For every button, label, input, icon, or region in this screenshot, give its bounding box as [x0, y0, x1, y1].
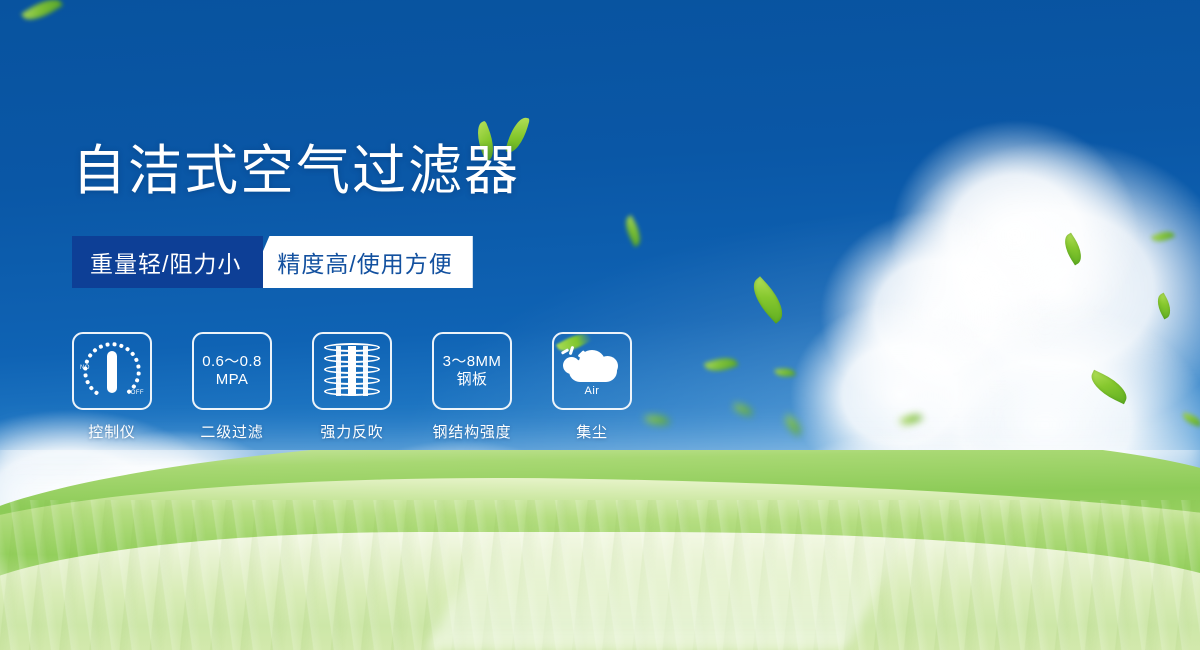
- subtitle-bar: 重量轻/阻力小 精度高/使用方便: [72, 236, 473, 288]
- feature-item-dust[interactable]: Air 集尘: [546, 332, 638, 442]
- gauge-tick: [112, 342, 116, 346]
- gauge-dial-icon: NO OFF: [81, 342, 143, 400]
- coil-ring: [324, 354, 380, 363]
- gauge-tick: [105, 342, 109, 346]
- feature-label: 强力反吹: [320, 421, 383, 442]
- banner-content: 自洁式空气过滤器 重量轻/阻力小 精度高/使用方便: [0, 0, 1200, 650]
- feature-icon-text: 3～8MM: [443, 353, 502, 371]
- feature-label: 控制仪: [88, 421, 135, 442]
- gauge-tick: [130, 351, 135, 356]
- product-banner: 自洁式空气过滤器 重量轻/阻力小 精度高/使用方便: [0, 0, 1200, 650]
- feature-item-steel[interactable]: 3～8MM 钢板 钢结构强度: [426, 332, 518, 442]
- feature-list: NO OFF 控制仪 0.6～0.8 MPA 二级过滤: [66, 332, 638, 442]
- gauge-label-no: NO: [80, 365, 90, 371]
- feature-icon-box: Air: [552, 332, 632, 410]
- subtitle-badge-primary: 重量轻/阻力小: [72, 236, 263, 288]
- page-title: 自洁式空气过滤器: [72, 144, 520, 198]
- feature-icon-subtext: 钢板: [457, 371, 488, 389]
- subtitle-badge-secondary: 精度高/使用方便: [247, 236, 472, 288]
- feature-icon-text: 0.6～0.8: [202, 353, 262, 371]
- gauge-tick: [135, 378, 140, 383]
- gauge-tick: [137, 364, 141, 368]
- feature-label: 二级过滤: [200, 421, 263, 442]
- feature-item-control[interactable]: NO OFF 控制仪: [66, 332, 158, 442]
- feature-icon-text: Air: [561, 385, 623, 397]
- coil-ring: [324, 376, 380, 385]
- coil-ring: [324, 387, 380, 396]
- feature-icon-box: NO OFF: [72, 332, 152, 410]
- gauge-tick: [89, 386, 94, 391]
- feature-item-pressure[interactable]: 0.6～0.8 MPA 二级过滤: [186, 332, 278, 442]
- gauge-needle: [107, 351, 117, 393]
- gauge-tick: [137, 371, 141, 375]
- feature-icon-subtext: MPA: [216, 371, 249, 389]
- cloud-air-icon: Air: [561, 346, 623, 394]
- coil-ring: [324, 343, 380, 352]
- coil-filter-icon: [324, 343, 380, 399]
- gauge-tick: [92, 348, 97, 353]
- gauge-tick: [119, 343, 124, 348]
- gauge-tick: [84, 359, 89, 364]
- feature-icon-box: [312, 332, 392, 410]
- gauge-tick: [134, 357, 139, 362]
- gauge-tick: [85, 380, 90, 385]
- gauge-tick: [125, 346, 130, 351]
- gauge-tick: [83, 374, 87, 378]
- gauge-tick: [94, 391, 99, 396]
- feature-icon-box: 3～8MM 钢板: [432, 332, 512, 410]
- feature-label: 钢结构强度: [432, 421, 511, 442]
- gauge-tick: [132, 384, 137, 389]
- feature-label: 集尘: [576, 421, 608, 442]
- feature-item-backblow[interactable]: 强力反吹: [306, 332, 398, 442]
- gauge-tick: [98, 344, 103, 349]
- feature-icon-box: 0.6～0.8 MPA: [192, 332, 272, 410]
- gauge-tick: [87, 353, 92, 358]
- gauge-label-off: OFF: [131, 390, 144, 396]
- cloud-body: [569, 360, 617, 382]
- coil-ring: [324, 365, 380, 374]
